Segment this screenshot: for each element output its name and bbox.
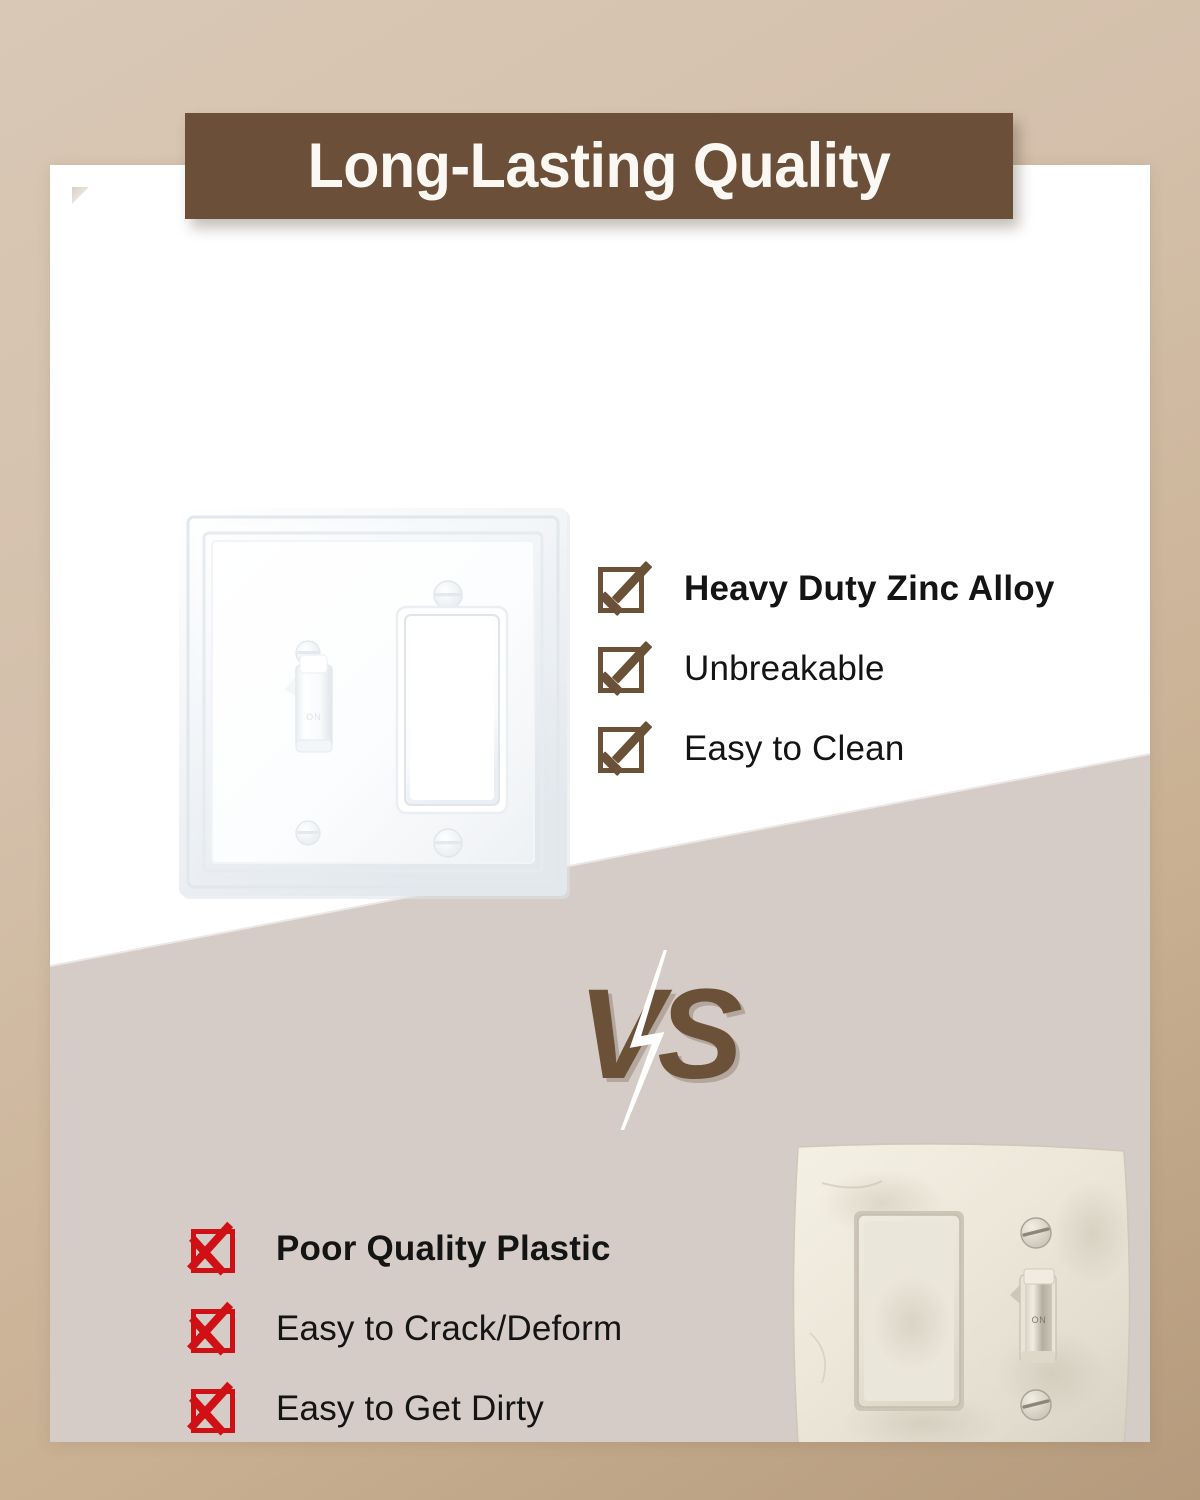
- product-comparison-card: ON Heavy Duty Zinc Alloy: [50, 165, 1150, 1442]
- old-wall-plate-svg: ON: [762, 1123, 1150, 1442]
- feature-row: Easy to Get Dirty: [190, 1385, 622, 1433]
- old-wall-plate-image: ON: [762, 1123, 1150, 1442]
- feature-row: Easy to Clean: [598, 725, 1055, 773]
- feature-label: Unbreakable: [684, 649, 885, 689]
- feature-row: Easy to Crack/Deform: [190, 1305, 622, 1353]
- feature-label: Poor Quality Plastic: [276, 1229, 611, 1269]
- feature-row: Unbreakable: [598, 645, 1055, 693]
- new-wall-plate-image: ON: [176, 505, 576, 905]
- checkmark-icon: [598, 725, 646, 773]
- toggle-screw-bottom-icon: [296, 821, 320, 845]
- title-banner: Long-Lasting Quality: [185, 113, 1013, 219]
- feature-list-disadvantages: Poor Quality Plastic Easy to Crack/Defor…: [190, 1225, 622, 1433]
- page-title: Long-Lasting Quality: [308, 130, 891, 202]
- screw-bottom-icon: [434, 829, 462, 857]
- feature-row: Heavy Duty Zinc Alloy: [598, 565, 1055, 613]
- feature-label: Easy to Clean: [684, 729, 905, 769]
- versus-badge: VS VS: [570, 950, 750, 1130]
- svg-text:ON: ON: [1032, 1315, 1047, 1325]
- svg-text:ON: ON: [306, 712, 322, 722]
- page-fold-corner-icon: [72, 187, 89, 204]
- cross-mark-icon: [190, 1305, 238, 1353]
- checkmark-icon: [598, 645, 646, 693]
- feature-label: Easy to Get Dirty: [276, 1389, 544, 1429]
- screw-top-icon: [1021, 1218, 1051, 1248]
- screw-bottom-icon: [1021, 1390, 1051, 1420]
- versus-icon: VS VS: [570, 950, 750, 1130]
- screw-top-icon: [434, 581, 462, 609]
- checkmark-icon: [598, 565, 646, 613]
- cross-mark-icon: [190, 1385, 238, 1433]
- feature-label: Easy to Crack/Deform: [276, 1309, 622, 1349]
- feature-row: Poor Quality Plastic: [190, 1225, 622, 1273]
- rocker-switch-icon: [854, 1211, 964, 1411]
- feature-list-advantages: Heavy Duty Zinc Alloy Unbreakable Easy t…: [598, 565, 1055, 773]
- cross-mark-icon: [190, 1225, 238, 1273]
- new-wall-plate-svg: ON: [176, 505, 576, 905]
- rocker-switch-icon: [397, 607, 507, 813]
- feature-label: Heavy Duty Zinc Alloy: [684, 569, 1055, 609]
